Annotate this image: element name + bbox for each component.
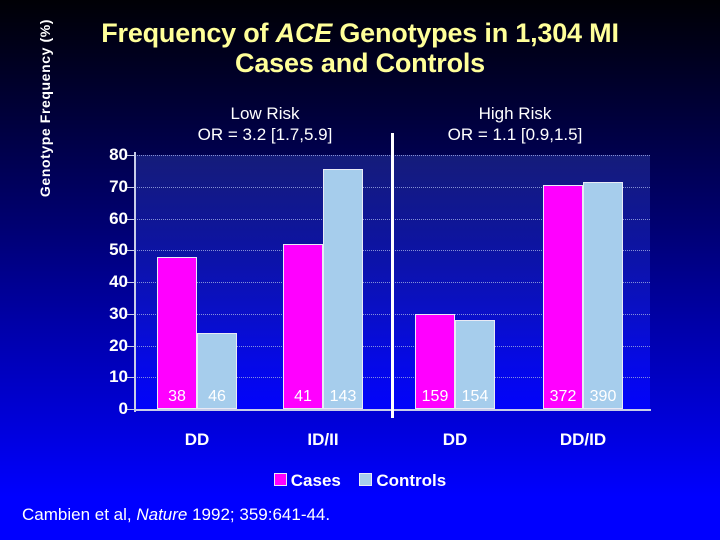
x-axis-category-labels: DDID/IIDDDD/ID (135, 430, 650, 454)
y-axis-tick-label: 60 (90, 210, 128, 227)
category-label-2: DD (410, 430, 500, 450)
y-axis-tick-label: 10 (90, 368, 128, 385)
bar-value-label: 41 (284, 388, 322, 406)
y-axis-tick-label: 20 (90, 337, 128, 354)
group-low-risk-name: Low Risk (150, 103, 380, 124)
bar-controls-1: 46 (197, 333, 237, 409)
bar-cases-2: 41 (283, 244, 323, 409)
y-axis-tick (127, 282, 135, 283)
legend-swatch-controls-icon (359, 473, 372, 486)
category-label-0: DD (152, 430, 242, 450)
chart-legend: Cases Controls (0, 471, 720, 491)
page-title: Frequency of ACE Genotypes in 1,304 MI C… (0, 18, 720, 78)
y-axis-title: Genotype Frequency (%) (37, 8, 53, 208)
bar-value-label: 372 (544, 388, 582, 406)
slide: Frequency of ACE Genotypes in 1,304 MI C… (0, 0, 720, 540)
citation-journal-italic: Nature (136, 505, 187, 524)
bar-value-label: 159 (416, 388, 454, 406)
y-axis-tick (127, 314, 135, 315)
bar-value-label: 154 (456, 388, 494, 406)
legend-label-cases: Cases (291, 471, 341, 491)
category-label-3: DD/ID (538, 430, 628, 450)
y-axis-tick-label: 70 (90, 178, 128, 195)
bar-controls-5: 154 (455, 320, 495, 409)
citation-details: 1992; 359:641-44. (187, 505, 330, 524)
y-axis-tick-label: 30 (90, 305, 128, 322)
y-axis-tick-label: 0 (90, 400, 128, 417)
y-axis-tick (127, 409, 135, 410)
bar-cases-0: 38 (157, 257, 197, 409)
title-line2: Cases and Controls (235, 48, 485, 78)
y-axis-tick-label: 40 (90, 273, 128, 290)
legend-label-controls: Controls (376, 471, 446, 491)
y-axis-tick (127, 377, 135, 378)
legend-item-cases: Cases (274, 471, 341, 491)
y-axis-tick (127, 250, 135, 251)
group-header-high-risk: High Risk OR = 1.1 [0.9,1.5] (400, 103, 630, 145)
y-axis-tick-labels: 01020304050607080 (88, 155, 128, 409)
bar-controls-3: 143 (323, 169, 363, 409)
y-axis-tick (127, 346, 135, 347)
citation: Cambien et al, Nature 1992; 359:641-44. (22, 505, 330, 525)
y-axis-tick (127, 187, 135, 188)
bar-value-label: 143 (324, 388, 362, 406)
group-high-risk-or: OR = 1.1 [0.9,1.5] (400, 124, 630, 145)
group-divider-line (391, 133, 394, 418)
legend-swatch-cases-icon (274, 473, 287, 486)
group-low-risk-or: OR = 3.2 [1.7,5.9] (150, 124, 380, 145)
title-part1: Frequency of (101, 18, 275, 48)
bar-value-label: 38 (158, 388, 196, 406)
bar-controls-7: 390 (583, 182, 623, 409)
y-axis-tick (127, 219, 135, 220)
y-axis-tick-label: 80 (90, 146, 128, 163)
bar-cases-6: 372 (543, 185, 583, 409)
y-axis-tick-label: 50 (90, 241, 128, 258)
bar-cases-4: 159 (415, 314, 455, 409)
citation-authors: Cambien et al, (22, 505, 136, 524)
group-high-risk-name: High Risk (400, 103, 630, 124)
bar-value-label: 390 (584, 388, 622, 406)
title-gene-italic: ACE (276, 18, 332, 48)
category-label-1: ID/II (278, 430, 368, 450)
y-axis-tick (127, 155, 135, 156)
group-header-low-risk: Low Risk OR = 3.2 [1.7,5.9] (150, 103, 380, 145)
legend-item-controls: Controls (359, 471, 446, 491)
title-part2: Genotypes in 1,304 MI (332, 18, 619, 48)
bar-value-label: 46 (198, 388, 236, 406)
